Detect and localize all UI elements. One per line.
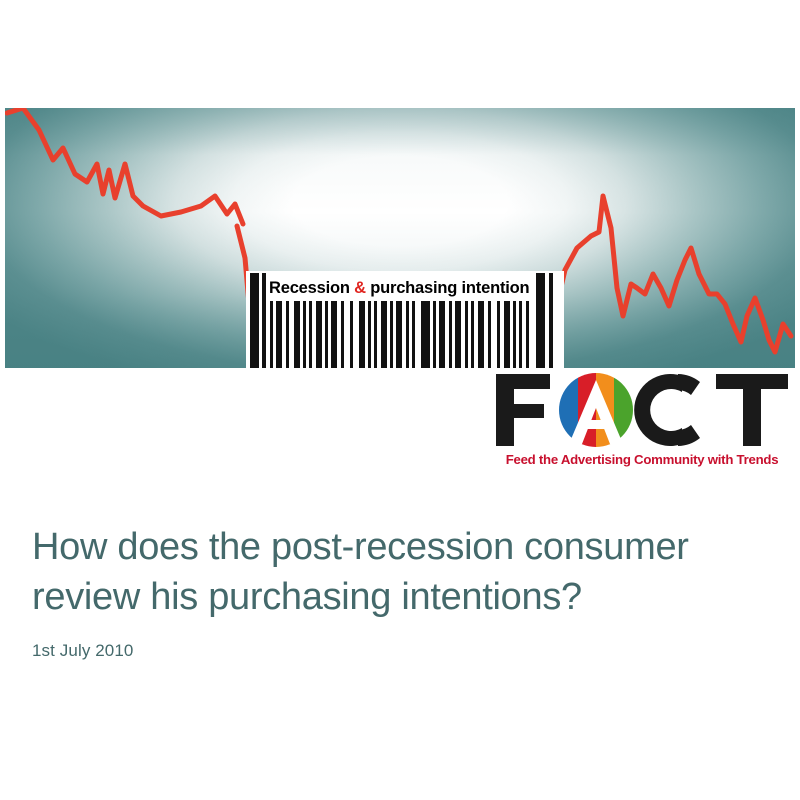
logo-letter-c — [634, 374, 700, 446]
logo-letter-f — [496, 374, 550, 446]
trend-line-left — [7, 108, 243, 224]
presentation-slide: Recession & purchasing intention — [0, 0, 800, 800]
fact-tagline: Feed the Advertising Community with Tren… — [492, 452, 792, 467]
title-block: How does the post-recession consumer rev… — [32, 522, 772, 662]
fact-wordmark — [492, 370, 792, 450]
hero-banner: Recession & purchasing intention — [5, 108, 795, 368]
trend-line-right — [557, 196, 791, 352]
page-title: How does the post-recession consumer rev… — [32, 522, 772, 622]
barcode-bars — [246, 271, 564, 368]
logo-letter-t — [716, 374, 788, 446]
logo-letter-a — [559, 373, 633, 447]
slide-date: 1st July 2010 — [32, 640, 772, 662]
fact-logo: Feed the Advertising Community with Tren… — [492, 370, 792, 478]
barcode-graphic: Recession & purchasing intention — [246, 271, 564, 368]
